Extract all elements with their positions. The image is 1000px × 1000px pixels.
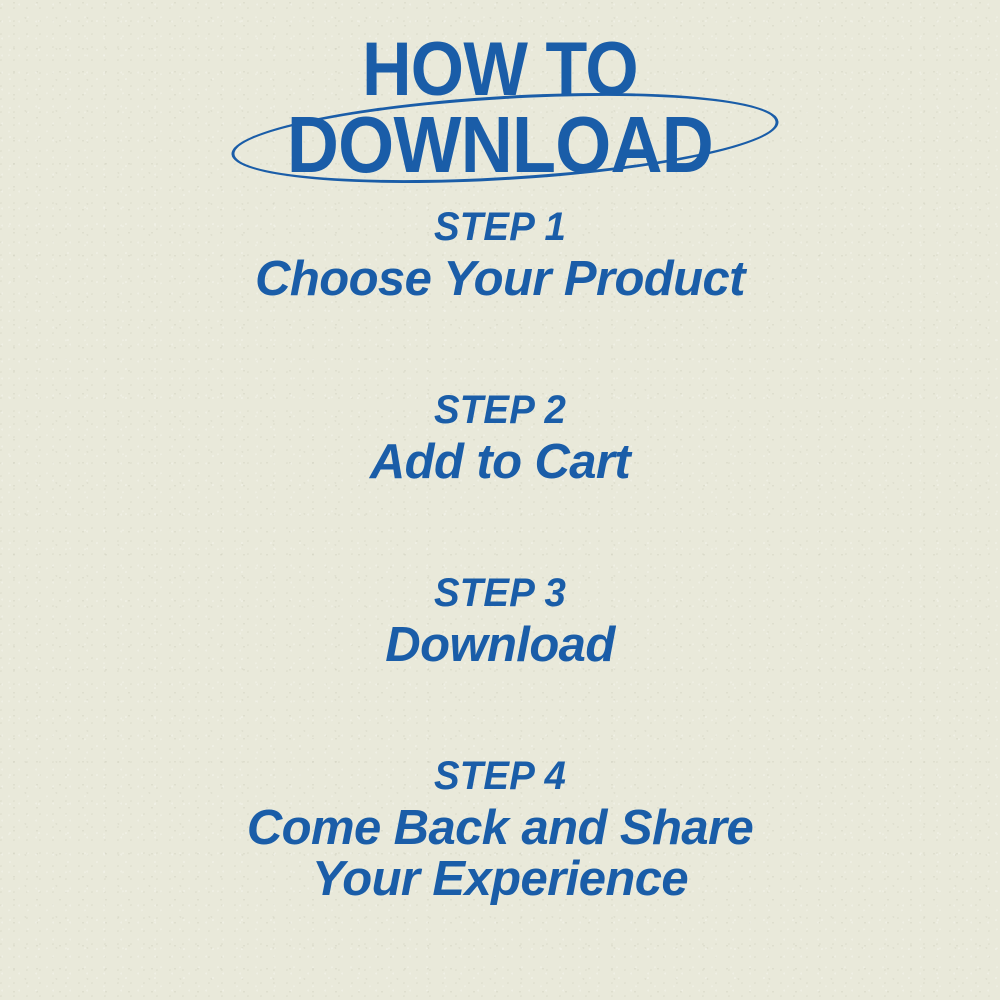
step-1-title: Choose Your Product <box>0 254 1000 305</box>
step-3-label: STEP 3 <box>20 572 980 614</box>
list-item: STEP 1 Choose Your Product <box>0 206 1000 305</box>
step-4-title-line-1: Come Back and Share <box>0 803 1000 854</box>
steps-list: STEP 1 Choose Your Product STEP 2 Add to… <box>0 206 1000 905</box>
step-4-title-line-2: Your Experience <box>0 854 1000 905</box>
step-2-label: STEP 2 <box>20 389 980 431</box>
step-2-title: Add to Cart <box>0 437 1000 488</box>
step-4-label: STEP 4 <box>20 755 980 797</box>
step-3-title: Download <box>0 620 1000 671</box>
step-4-title: Come Back and Share Your Experience <box>0 803 1000 905</box>
how-to-download-poster: HOW TO DOWNLOAD STEP 1 Choose Your Produ… <box>0 0 1000 1000</box>
step-1-title-line-1: Choose Your Product <box>0 254 1000 305</box>
step-3-title-line-1: Download <box>0 620 1000 671</box>
step-2-title-line-1: Add to Cart <box>0 437 1000 488</box>
list-item: STEP 3 Download <box>0 572 1000 671</box>
list-item: STEP 2 Add to Cart <box>0 389 1000 488</box>
list-item: STEP 4 Come Back and Share Your Experien… <box>0 755 1000 905</box>
step-1-label: STEP 1 <box>20 206 980 248</box>
